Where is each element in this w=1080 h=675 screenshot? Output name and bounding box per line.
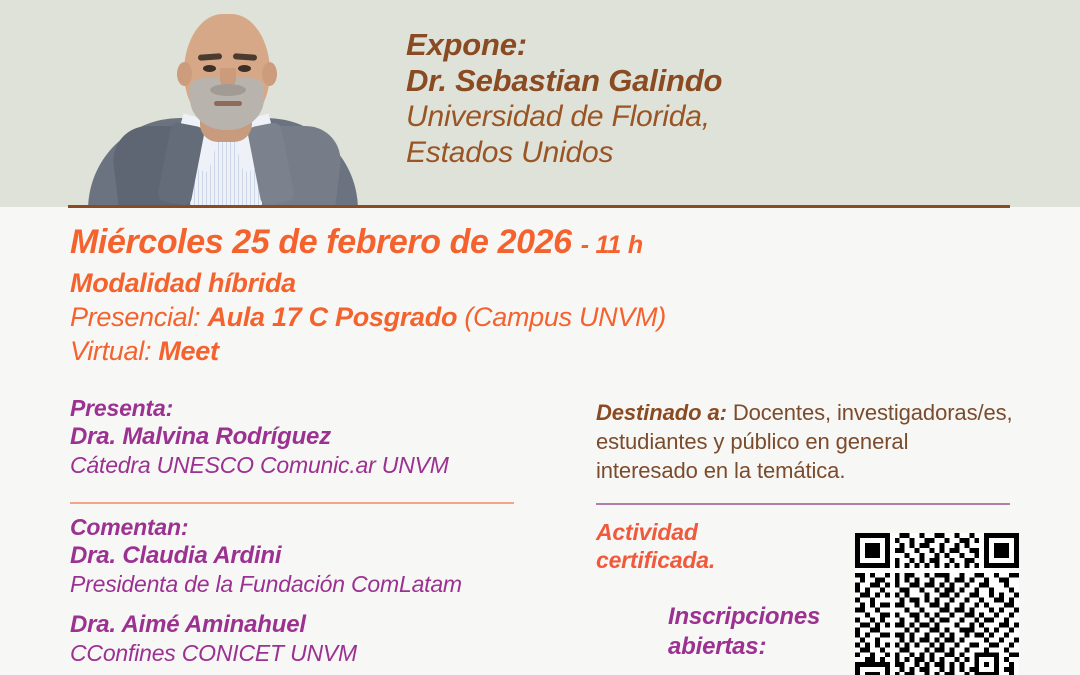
presenta-name: Dra. Malvina Rodríguez bbox=[70, 422, 530, 451]
speaker-affiliation-line2: Estados Unidos bbox=[406, 135, 1026, 171]
comentan-person: Dra. Aimé Aminahuel CConfines CONICET UN… bbox=[70, 610, 540, 668]
presenta-kicker: Presenta: bbox=[70, 394, 530, 422]
comentan-person-role: CConfines CONICET UNVM bbox=[70, 639, 540, 668]
portrait-ear-left bbox=[177, 62, 192, 86]
speaker-label: Expone: bbox=[406, 27, 1026, 63]
registration-line1: Inscripciones bbox=[668, 602, 858, 632]
event-time: - 11 h bbox=[581, 231, 643, 259]
event-details: Miércoles 25 de febrero de 2026 - 11 h M… bbox=[70, 222, 1010, 368]
comentan-block: Comentan: Dra. Claudia Ardini Presidenta… bbox=[70, 513, 540, 668]
comentan-spacer bbox=[70, 599, 540, 610]
portrait-mouth bbox=[214, 101, 242, 106]
event-modality: Modalidad híbrida bbox=[70, 266, 1010, 300]
presencial-venue: Aula 17 C Posgrado bbox=[207, 302, 457, 332]
speaker-portrait bbox=[78, 0, 368, 207]
presencial-campus: (Campus UNVM) bbox=[464, 302, 666, 332]
portrait-eye-right bbox=[238, 65, 251, 72]
presencial-label: Presencial: bbox=[70, 302, 200, 332]
left-column-divider bbox=[70, 502, 514, 504]
comentan-kicker: Comentan: bbox=[70, 513, 540, 541]
certification-note: Actividad certificada. bbox=[596, 518, 826, 574]
comentan-person-role: Presidenta de la Fundación ComLatam bbox=[70, 570, 540, 599]
presenta-block: Presenta: Dra. Malvina Rodríguez Cátedra… bbox=[70, 394, 530, 480]
comentan-person-name: Dra. Aimé Aminahuel bbox=[70, 610, 540, 639]
header-divider bbox=[68, 205, 1010, 208]
audience-paragraph: Destinado a: Docentes, investigadoras/es… bbox=[596, 398, 1016, 485]
certification-line2: certificada. bbox=[596, 546, 826, 574]
audience-block: Destinado a: Docentes, investigadoras/es… bbox=[596, 398, 1016, 485]
registration-note: Inscripciones abiertas: bbox=[668, 602, 858, 662]
event-presencial: Presencial: Aula 17 C Posgrado (Campus U… bbox=[70, 300, 1010, 334]
speaker-name: Dr. Sebastian Galindo bbox=[406, 63, 1026, 99]
qr-code-image bbox=[855, 533, 1019, 675]
portrait-eye-left bbox=[203, 65, 216, 72]
speaker-affiliation-line1: Universidad de Florida, bbox=[406, 99, 1026, 135]
presenta-role: Cátedra UNESCO Comunic.ar UNVM bbox=[70, 451, 530, 480]
header-band: Expone: Dr. Sebastian Galindo Universida… bbox=[0, 0, 1080, 207]
audience-label: Destinado a: bbox=[596, 400, 727, 425]
comentan-person-name: Dra. Claudia Ardini bbox=[70, 541, 540, 570]
portrait-mustache bbox=[210, 84, 246, 96]
registration-line2: abiertas: bbox=[668, 632, 858, 662]
right-column-divider bbox=[596, 503, 1010, 505]
certification-line1: Actividad bbox=[596, 518, 826, 546]
event-poster: Expone: Dr. Sebastian Galindo Universida… bbox=[0, 0, 1080, 675]
virtual-label: Virtual: bbox=[70, 336, 151, 366]
event-date-line: Miércoles 25 de febrero de 2026 - 11 h bbox=[70, 222, 1010, 266]
event-date: Miércoles 25 de febrero de 2026 bbox=[70, 223, 572, 261]
virtual-platform[interactable]: Meet bbox=[158, 336, 218, 366]
speaker-info: Expone: Dr. Sebastian Galindo Universida… bbox=[406, 27, 1026, 171]
portrait-ear-right bbox=[262, 62, 277, 86]
comentan-person: Dra. Claudia Ardini Presidenta de la Fun… bbox=[70, 541, 540, 599]
registration-qr-code[interactable] bbox=[855, 533, 1019, 675]
event-virtual: Virtual: Meet bbox=[70, 334, 1010, 368]
